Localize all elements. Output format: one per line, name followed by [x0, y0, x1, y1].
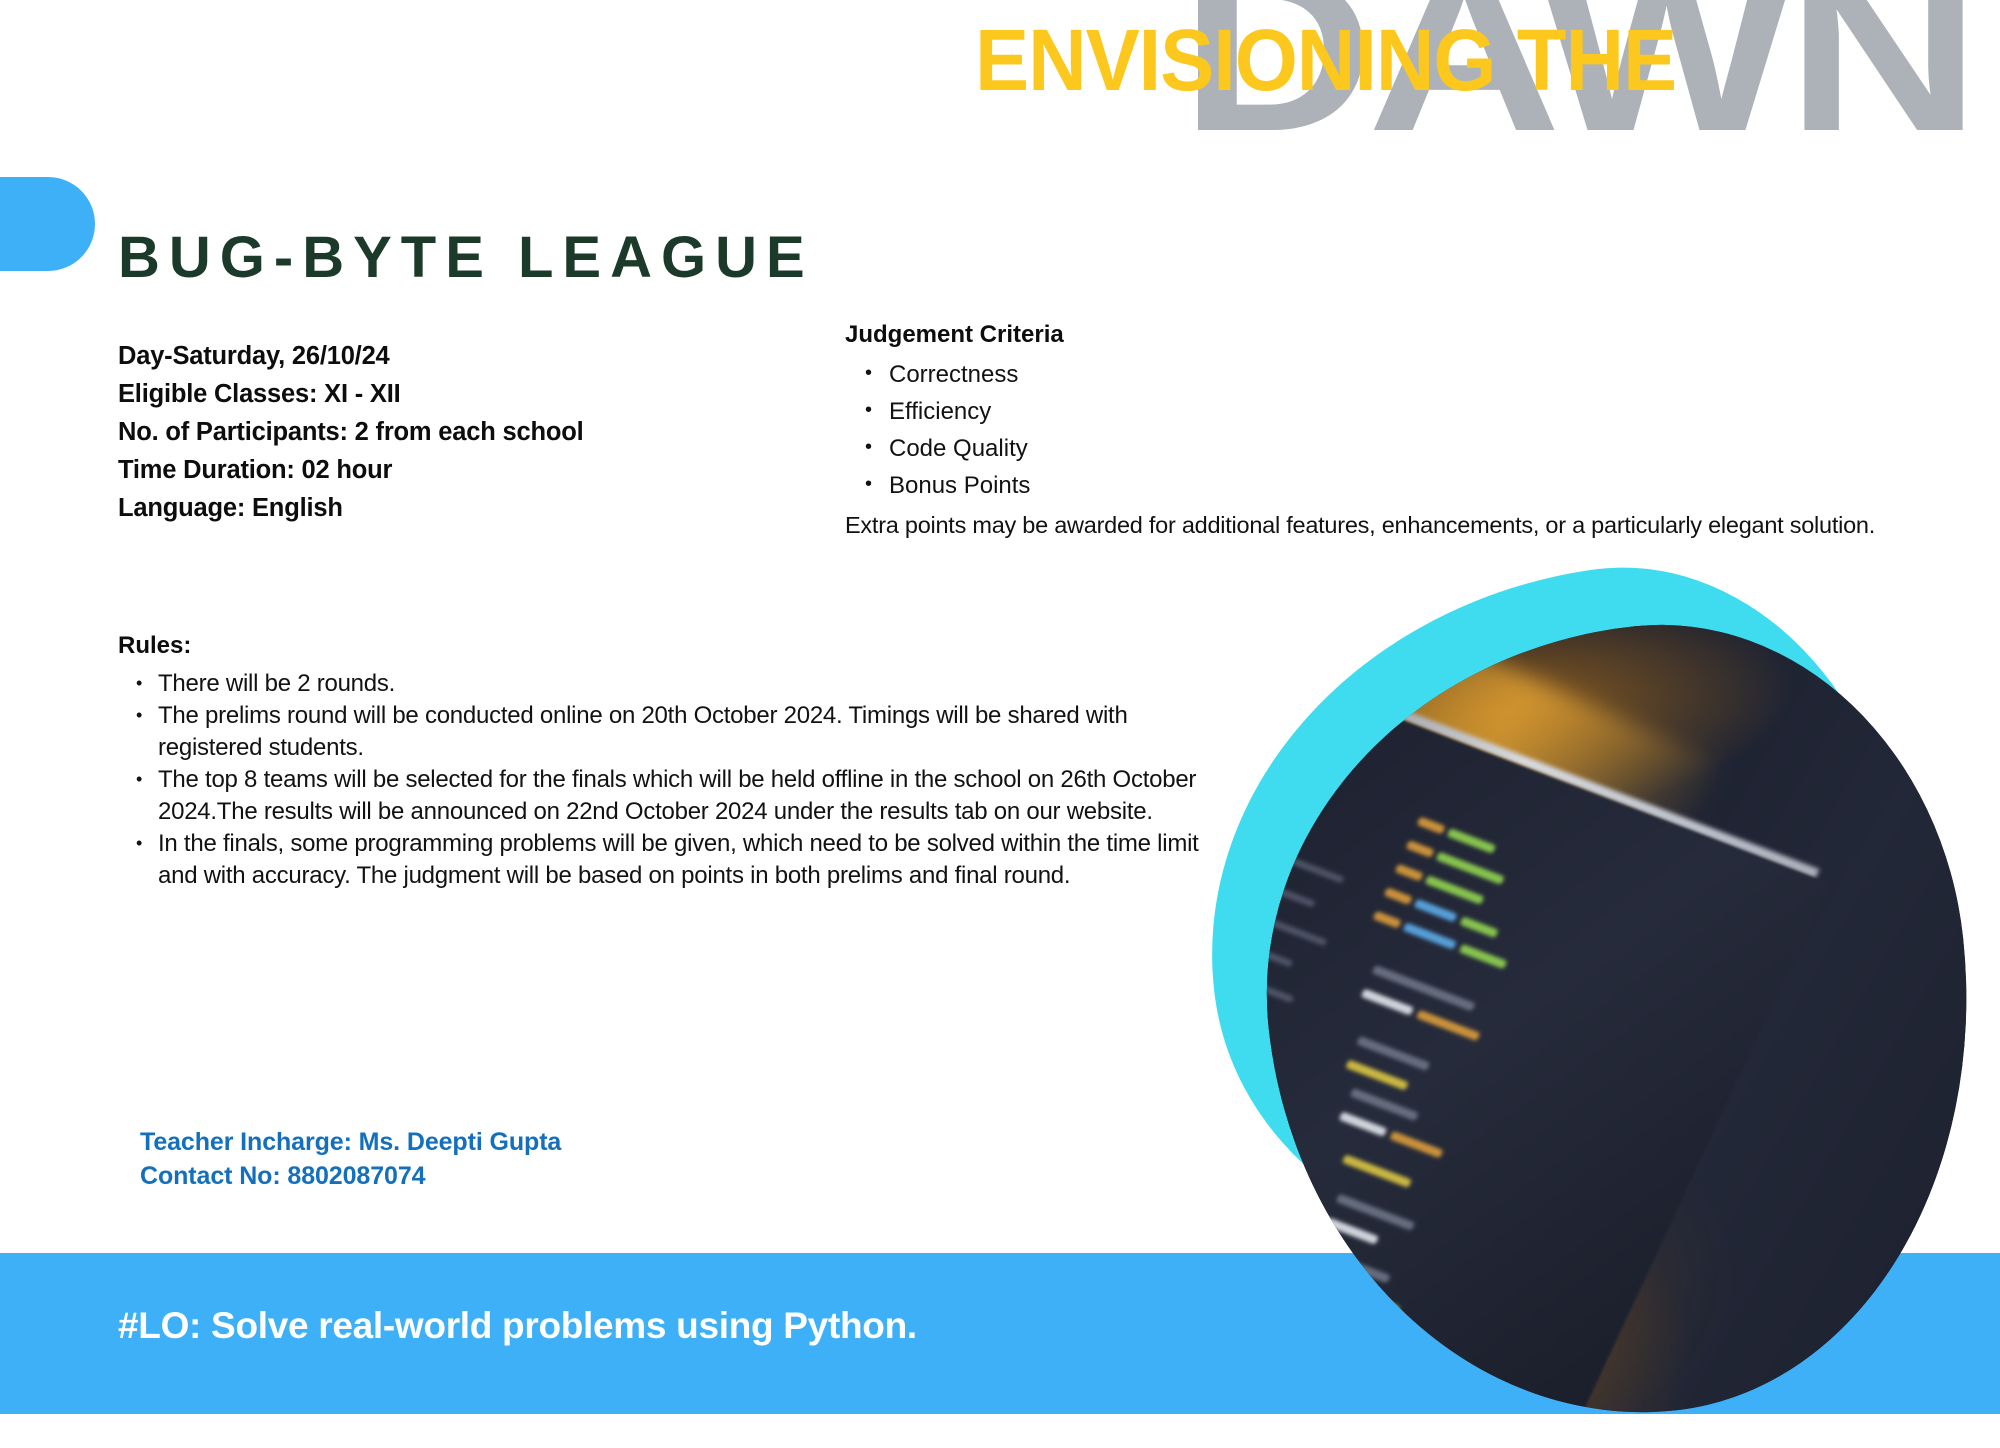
footer-learning-objective: #LO: Solve real-world problems using Pyt… [118, 1305, 917, 1348]
detail-day: Day-Saturday, 26/10/24 [118, 337, 818, 375]
detail-eligible-classes: Eligible Classes: XI - XII [118, 375, 818, 413]
judgement-extra-points-note: Extra points may be awarded for addition… [845, 510, 1945, 541]
rules-section: Rules: There will be 2 rounds. The preli… [118, 630, 1208, 892]
list-item: The prelims round will be conducted onli… [158, 700, 1208, 764]
page-title: BUG-BYTE LEAGUE [118, 229, 814, 287]
contact-number: Contact No: 8802087074 [140, 1159, 561, 1193]
code-photo-blob [1208, 578, 1998, 1414]
header-backdrop-word: DAWN [1180, 0, 1974, 166]
judgement-criteria-heading: Judgement Criteria [845, 320, 1945, 350]
judgement-criteria-list: Correctness Efficiency Code Quality Bonu… [845, 356, 1945, 504]
header-highlight-word: ENVISIONING THE [975, 16, 1676, 103]
list-item: Correctness [889, 356, 1945, 393]
laptop-code-photo [1231, 596, 2000, 1448]
list-item: The top 8 teams will be selected for the… [158, 764, 1208, 828]
event-details: Day-Saturday, 26/10/24 Eligible Classes:… [118, 337, 818, 527]
judgement-criteria-section: Judgement Criteria Correctness Efficienc… [845, 320, 1945, 541]
list-item: Bonus Points [889, 467, 1945, 504]
list-item: Code Quality [889, 430, 1945, 467]
header-banner: DAWN ENVISIONING THE [0, 0, 2000, 200]
detail-language: Language: English [118, 489, 818, 527]
detail-time-duration: Time Duration: 02 hour [118, 451, 818, 489]
list-item: There will be 2 rounds. [158, 668, 1208, 700]
rules-heading: Rules: [118, 630, 1208, 661]
list-item: Efficiency [889, 393, 1945, 430]
list-item: In the finals, some programming problems… [158, 828, 1208, 892]
teacher-contact: Teacher Incharge: Ms. Deepti Gupta Conta… [140, 1125, 561, 1193]
rules-list: There will be 2 rounds. The prelims roun… [118, 668, 1208, 892]
title-accent-pill [0, 177, 95, 271]
detail-participants: No. of Participants: 2 from each school [118, 413, 818, 451]
teacher-incharge-label: Teacher Incharge: Ms. Deepti Gupta [140, 1125, 561, 1159]
